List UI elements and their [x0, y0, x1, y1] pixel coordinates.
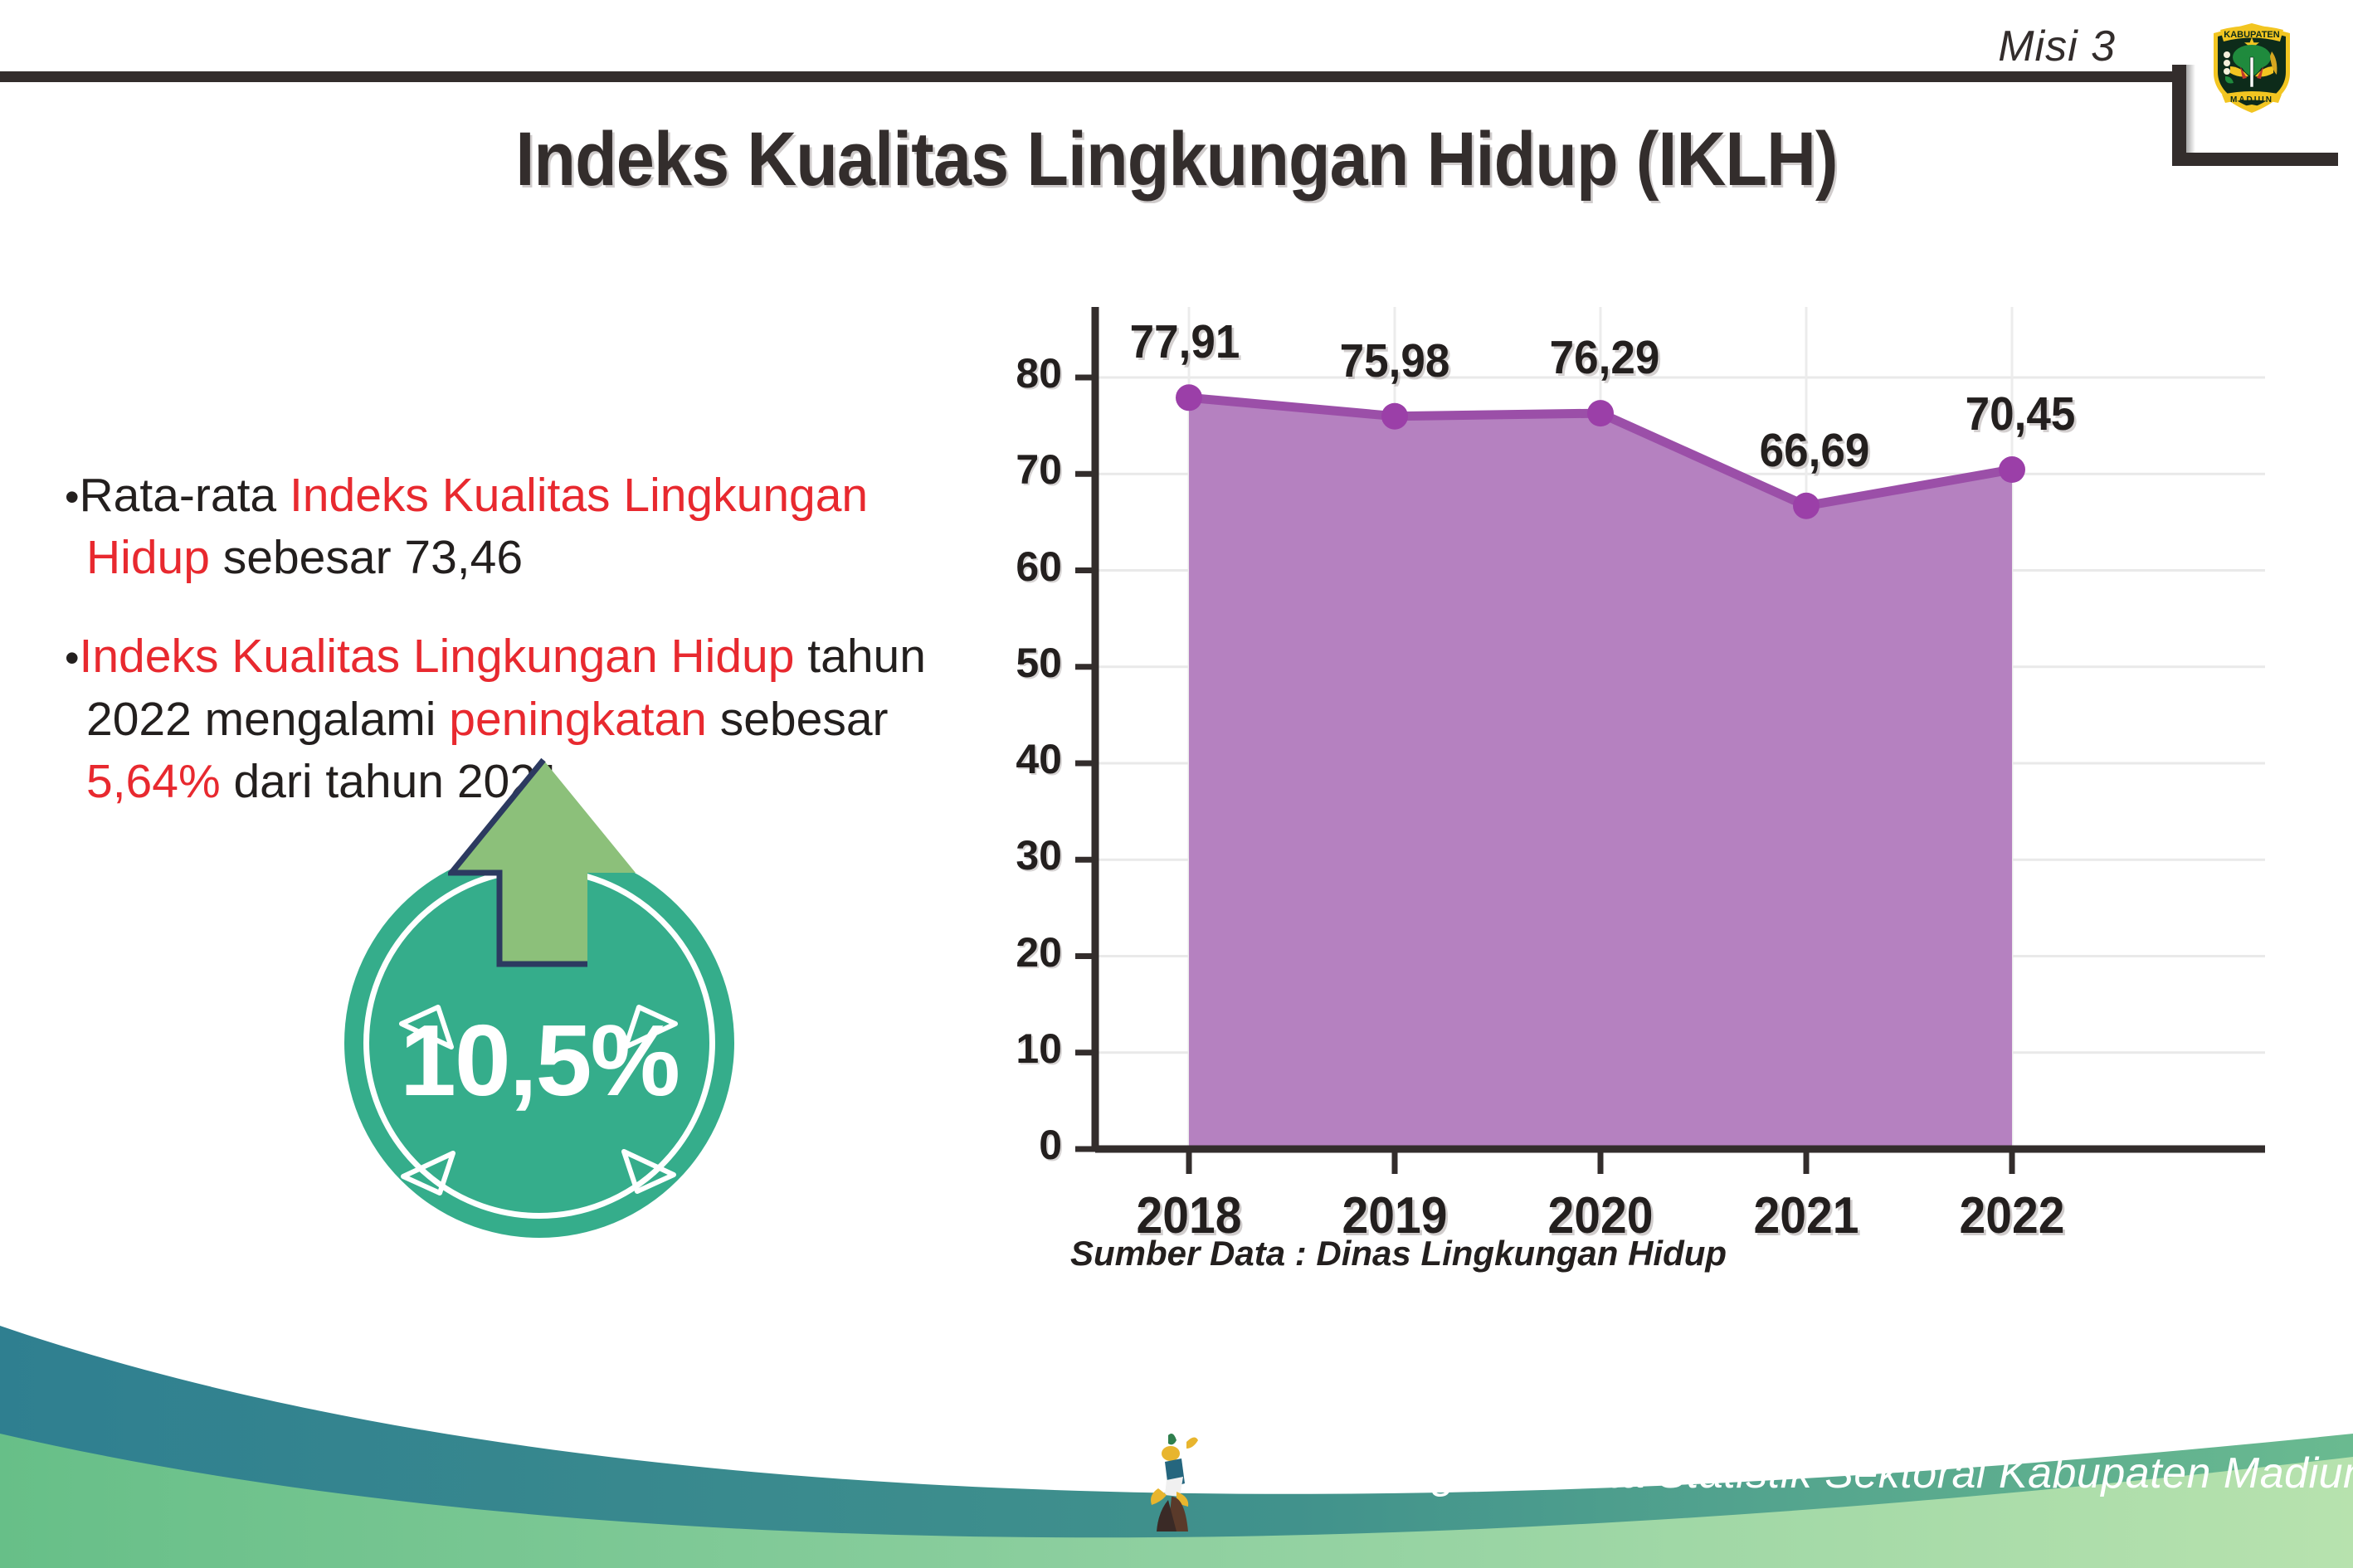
bullet-marker: •	[65, 635, 80, 681]
bullet-2-seg-4: 5,64%	[86, 755, 221, 808]
iklh-area-chart: 01020304050607080 20182019202020212022 7…	[971, 290, 2298, 1203]
chart-y-tick-label: 20	[954, 928, 1062, 976]
page-title: Indeks Kualitas Lingkungan Hidup (IKLH)	[118, 116, 2235, 203]
chart-y-tick-label: 70	[954, 446, 1062, 494]
svg-text:MADIUN: MADIUN	[2230, 95, 2273, 105]
bullet-item: •Rata-rata Indeks Kualitas Lingkungan Hi…	[65, 465, 952, 589]
badge-tick-bottom-left-icon	[398, 1147, 458, 1198]
header-divider	[0, 71, 2178, 82]
bullet-1-seg-0: Rata-rata	[80, 469, 290, 522]
chart-marker	[1587, 400, 1614, 426]
chart-data-label: 77,91	[1092, 314, 1277, 369]
arrow-up-icon	[448, 757, 639, 968]
increase-badge: 10,5%	[324, 757, 755, 1196]
misi-label: Misi 3	[1998, 22, 2116, 71]
bullet-2-seg-2: peningkatan	[449, 693, 707, 746]
chart-y-tick-label: 40	[954, 735, 1062, 783]
chart-marker	[1793, 493, 1820, 519]
chart-area-fill	[1189, 397, 2012, 1149]
bullet-2-seg-3: sebesar	[707, 693, 889, 746]
badge-percent-label: 10,5%	[344, 1002, 734, 1118]
statistik-figure-logo-icon	[1143, 1429, 1226, 1536]
footer-text: Media Infografis Data Statistik Sektoral…	[1226, 1449, 2353, 1498]
chart-data-label: 70,45	[1927, 387, 2112, 441]
bullet-2-seg-0: Indeks Kualitas Lingkungan Hidup	[80, 630, 795, 683]
badge-tick-bottom-right-icon	[619, 1145, 679, 1196]
chart-data-label: 66,69	[1722, 423, 1907, 478]
bullet-1-seg-2: sebesar 73,46	[210, 531, 523, 584]
chart-marker	[1176, 384, 1202, 411]
source-note: Sumber Data : Dinas Lingkungan Hidup	[1070, 1234, 1727, 1273]
chart-marker	[1999, 456, 2025, 483]
chart-y-tick-label: 30	[954, 831, 1062, 879]
chart-y-tick-label: 50	[954, 639, 1062, 687]
chart-y-tick-label: 10	[954, 1025, 1062, 1073]
chart-data-label: 75,98	[1302, 334, 1487, 388]
chart-x-tick-label: 2022	[1936, 1186, 2088, 1245]
kabupaten-madiun-emblem-icon: KABUPATEN MADIUN	[2202, 12, 2302, 119]
chart-marker	[1381, 403, 1408, 430]
chart-x-tick-label: 2021	[1730, 1186, 1883, 1245]
chart-y-tick-label: 0	[954, 1121, 1062, 1169]
chart-y-tick-label: 80	[954, 349, 1062, 397]
chart-y-tick-label: 60	[954, 543, 1062, 591]
bullet-marker: •	[65, 474, 80, 520]
chart-data-label: 76,29	[1512, 330, 1697, 385]
